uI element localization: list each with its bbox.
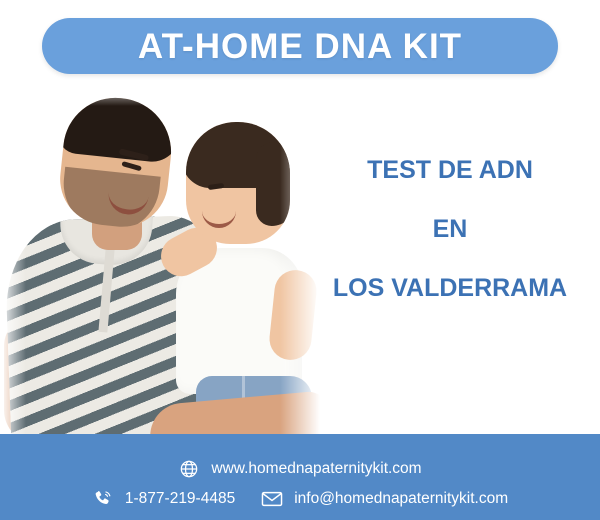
headline-line-3: LOS VALDERRAMA: [312, 276, 588, 301]
headline-line-2: EN: [312, 217, 588, 242]
email-item[interactable]: info@homednapaternitykit.com: [261, 488, 508, 510]
child-side-hair: [256, 142, 290, 226]
child-head: [186, 122, 290, 244]
father-eye: [121, 161, 142, 171]
website-text: www.homednapaternitykit.com: [211, 461, 421, 477]
father-head: [56, 93, 177, 232]
header-pill: AT-HOME DNA KIT: [42, 18, 558, 74]
child-smile: [202, 208, 236, 228]
phone-item[interactable]: 1-877-219-4485: [92, 488, 235, 510]
footer-contact-row: 1-877-219-4485 info@homednapaternitykit.…: [0, 488, 600, 510]
page-title: AT-HOME DNA KIT: [138, 29, 462, 64]
child-leg: [267, 268, 318, 362]
footer-website-row: www.homednapaternitykit.com: [0, 458, 600, 480]
website-item[interactable]: www.homednapaternitykit.com: [178, 458, 421, 480]
child-eye: [208, 183, 225, 190]
footer-bar: www.homednapaternitykit.com 1-877-219-44…: [0, 434, 600, 520]
envelope-icon: [261, 488, 283, 510]
dna-kit-banner: AT-HOME DNA KIT: [0, 0, 600, 520]
headline-line-1: TEST DE ADN: [312, 158, 588, 183]
email-text: info@homednapaternitykit.com: [294, 491, 508, 507]
phone-text: 1-877-219-4485: [125, 491, 235, 507]
photo-canvas: [0, 80, 320, 452]
globe-icon: [178, 458, 200, 480]
headline-block: TEST DE ADN EN LOS VALDERRAMA: [312, 158, 588, 301]
family-photo: [0, 80, 320, 452]
phone-icon: [92, 488, 114, 510]
father-hair: [57, 93, 177, 165]
